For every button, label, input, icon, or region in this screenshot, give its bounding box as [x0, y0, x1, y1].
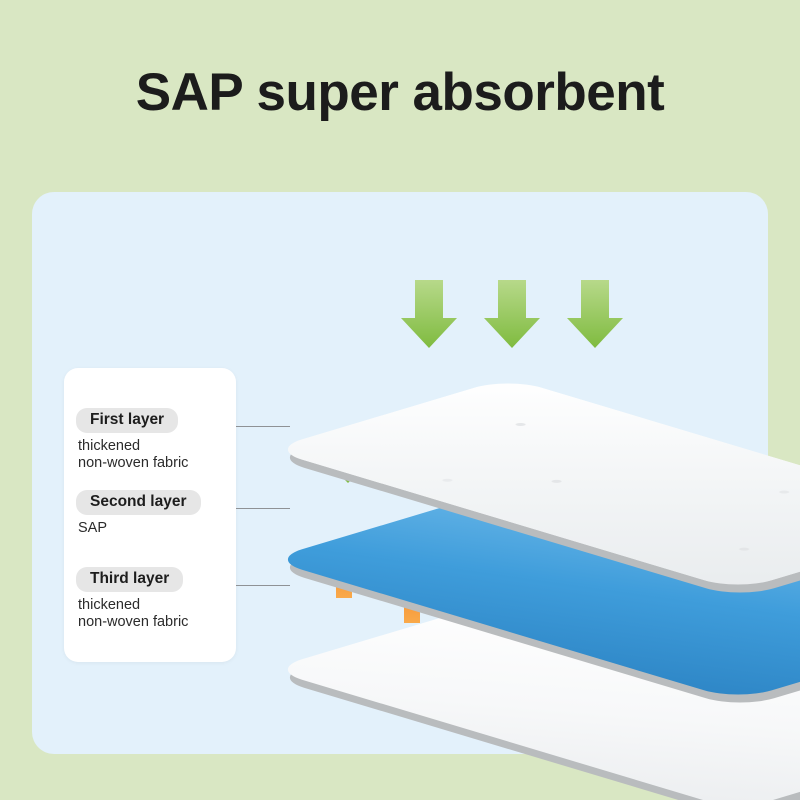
leader-line-third-layer: [236, 585, 290, 586]
legend-item-second-layer: Second layer SAP: [64, 490, 236, 537]
layer-stack: [240, 330, 750, 690]
legend-card: First layer thickened non-woven fabric S…: [64, 368, 236, 662]
diagram-canvas: SAP super absorbent: [0, 0, 800, 800]
second-layer-description: SAP: [78, 520, 236, 537]
second-layer-label: Second layer: [76, 490, 201, 515]
first-layer-label: First layer: [76, 408, 178, 433]
leader-line-second-layer: [236, 508, 290, 509]
legend-item-first-layer: First layer thickened non-woven fabric: [64, 408, 236, 472]
page-title: SAP super absorbent: [0, 62, 800, 123]
third-layer-description: thickened non-woven fabric: [78, 597, 236, 631]
third-layer-label: Third layer: [76, 567, 183, 592]
first-layer-description: thickened non-woven fabric: [78, 438, 236, 472]
legend-item-third-layer: Third layer thickened non-woven fabric: [64, 567, 236, 631]
leader-line-first-layer: [236, 426, 290, 427]
